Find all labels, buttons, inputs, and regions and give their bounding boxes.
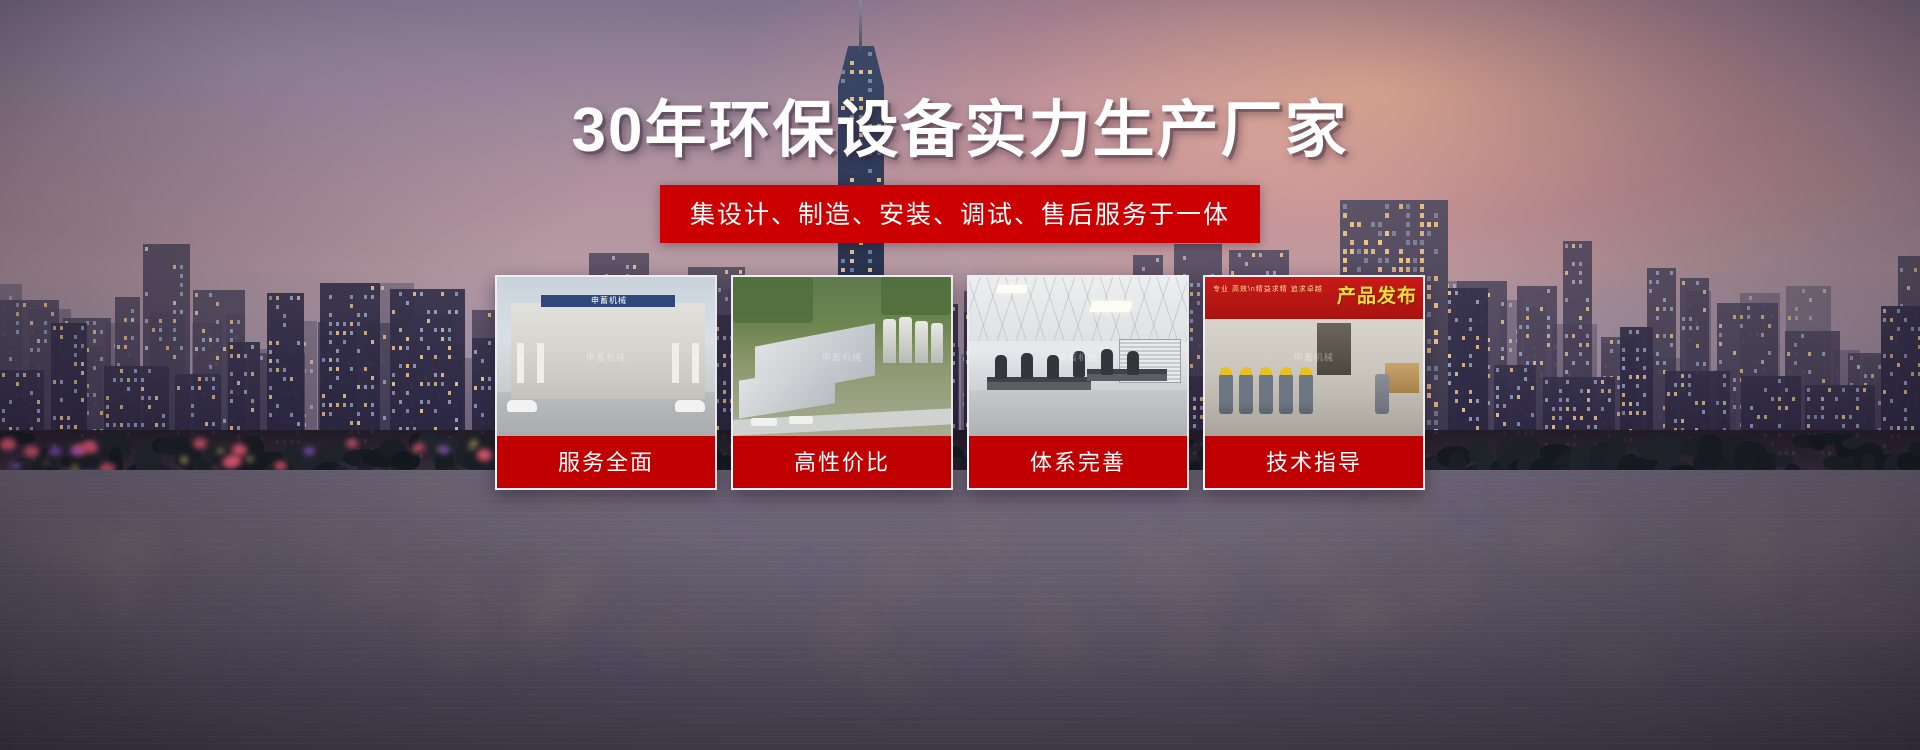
- hero-banner: 30年环保设备实力生产厂家 集设计、制造、安装、调试、售后服务于一体 申蓄机械: [0, 0, 1920, 750]
- feature-card-list: 申蓄机械 申蓄机械 服务全面: [495, 275, 1425, 490]
- workshop-workers-photo: 专业 高效\n精益求精 追求卓越 产品发布 申蓄机械: [1205, 277, 1423, 436]
- feature-card-label: 服务全面: [497, 436, 715, 488]
- office-meeting-room-photo: 申蓄机械: [969, 277, 1187, 436]
- feature-card-label: 高性价比: [733, 436, 951, 488]
- feature-card[interactable]: 专业 高效\n精益求精 追求卓越 产品发布 申蓄机械 技术指导: [1203, 275, 1425, 490]
- photo-company-sign: 申蓄机械: [553, 295, 665, 307]
- feature-card-label: 技术指导: [1205, 436, 1423, 488]
- feature-card[interactable]: 申蓄机械 高性价比: [731, 275, 953, 490]
- aerial-factory-plant-photo: 申蓄机械: [733, 277, 951, 436]
- feature-card[interactable]: 申蓄机械 申蓄机械 服务全面: [495, 275, 717, 490]
- workshop-banner-subtext: 专业 高效\n精益求精 追求卓越: [1213, 285, 1323, 294]
- subtitle-badge: 集设计、制造、安装、调试、售后服务于一体: [660, 185, 1260, 243]
- office-building-staff-photo: 申蓄机械 申蓄机械: [497, 277, 715, 436]
- banner-content: 30年环保设备实力生产厂家 集设计、制造、安装、调试、售后服务于一体 申蓄机械: [0, 0, 1920, 750]
- workshop-banner-text: 产品发布: [1337, 281, 1417, 308]
- photo-building: [511, 303, 705, 399]
- feature-card[interactable]: 申蓄机械 体系完善: [967, 275, 1189, 490]
- feature-card-label: 体系完善: [969, 436, 1187, 488]
- page-title: 30年环保设备实力生产厂家: [572, 98, 1349, 163]
